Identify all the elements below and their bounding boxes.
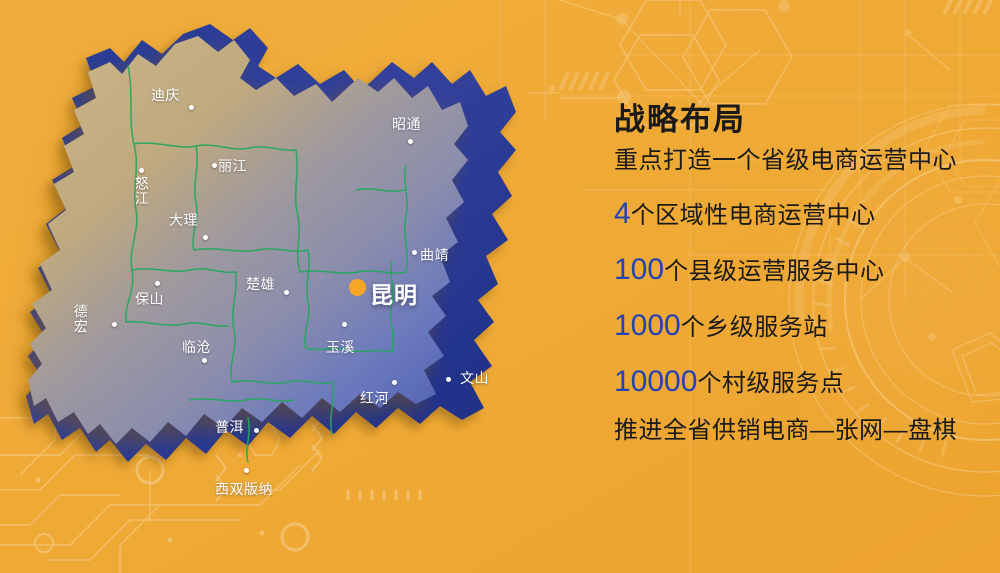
yunnan-map-graphic[interactable] <box>0 0 600 573</box>
panel-line-3: 1000个乡级服务站 <box>614 311 994 341</box>
panel-line-list: 重点打造一个省级电商运营中心4个区域性电商运营中心100个县级运营服务中心100… <box>614 149 994 443</box>
map-city-dot <box>212 163 217 168</box>
map-label-14[interactable]: 西双版纳 <box>215 482 273 497</box>
capital-label-kunming[interactable]: 昆明 <box>370 276 418 310</box>
strategy-panel: 战略布局 重点打造一个省级电商运营中心4个区域性电商运营中心100个县级运营服务… <box>614 104 994 443</box>
map-label-1[interactable]: 昭通 <box>392 117 421 132</box>
panel-line-text-5: 推进全省供销电商—张网—盘棋 <box>614 417 957 444</box>
map-label-10[interactable]: 临沧 <box>182 340 211 355</box>
panel-line-4: 10000个村级服务点 <box>614 367 994 397</box>
panel-line-5: 推进全省供销电商—张网—盘棋 <box>614 419 994 443</box>
map-city-dot <box>203 235 208 240</box>
panel-line-text-2: 个县级运营服务中心 <box>664 258 885 285</box>
map-label-8[interactable]: 德宏 <box>73 304 88 334</box>
map-container[interactable]: 迪庆昭通丽江怒江大理曲靖楚雄保山德宏玉溪临沧文山红河普洱西双版纳昆明 <box>0 0 600 573</box>
map-city-dot <box>408 139 413 144</box>
map-label-4[interactable]: 大理 <box>169 213 198 228</box>
panel-line-number-1: 4 <box>614 197 631 230</box>
map-city-dot <box>412 250 417 255</box>
map-label-7[interactable]: 保山 <box>135 292 164 307</box>
panel-line-2: 100个县级运营服务中心 <box>614 255 994 285</box>
poster-canvas: 迪庆昭通丽江怒江大理曲靖楚雄保山德宏玉溪临沧文山红河普洱西双版纳昆明 战略布局 … <box>0 0 1000 573</box>
map-label-9[interactable]: 玉溪 <box>326 340 355 355</box>
panel-line-number-3: 1000 <box>614 309 681 342</box>
map-city-dot <box>254 428 259 433</box>
panel-line-text-0: 重点打造一个省级电商运营中心 <box>614 147 957 174</box>
panel-line-1: 4个区域性电商运营中心 <box>614 199 994 229</box>
panel-line-number-2: 100 <box>614 253 664 286</box>
map-city-dot <box>112 322 117 327</box>
map-label-2[interactable]: 丽江 <box>218 159 247 174</box>
map-label-11[interactable]: 文山 <box>460 371 489 386</box>
map-city-dot <box>342 322 347 327</box>
panel-line-0: 重点打造一个省级电商运营中心 <box>614 149 994 173</box>
map-city-dot <box>284 290 289 295</box>
map-city-dot <box>139 168 144 173</box>
map-label-13[interactable]: 普洱 <box>215 420 244 435</box>
map-city-dot <box>189 105 194 110</box>
map-city-dot <box>202 358 207 363</box>
map-label-12[interactable]: 红河 <box>360 391 389 406</box>
capital-marker-dot <box>349 279 366 296</box>
map-label-0[interactable]: 迪庆 <box>151 88 180 103</box>
map-city-dot <box>244 468 249 473</box>
panel-line-text-1: 个区域性电商运营中心 <box>631 202 876 229</box>
map-label-6[interactable]: 楚雄 <box>246 277 275 292</box>
map-city-dot <box>446 377 451 382</box>
map-city-dot <box>155 281 160 286</box>
map-label-5[interactable]: 曲靖 <box>420 248 449 263</box>
panel-title: 战略布局 <box>614 104 994 135</box>
panel-line-number-4: 10000 <box>614 365 697 398</box>
panel-line-text-3: 个乡级服务站 <box>681 314 828 341</box>
map-city-dot <box>392 380 397 385</box>
map-label-3[interactable]: 怒江 <box>134 176 149 206</box>
panel-line-text-4: 个村级服务点 <box>697 370 844 397</box>
